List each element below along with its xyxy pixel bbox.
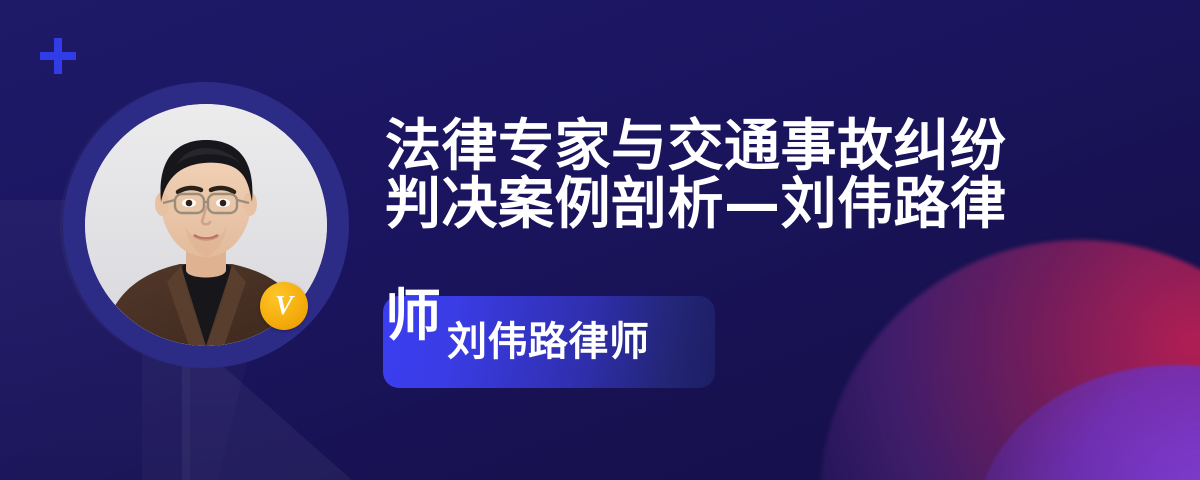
avatar: V <box>63 82 349 368</box>
verified-badge: V <box>260 282 308 330</box>
verified-check-icon: V <box>275 292 293 319</box>
title-line-2: 判决案例剖析—刘伟路律 <box>385 176 1025 234</box>
violet-blob-decoration <box>975 365 1200 480</box>
title-line-3: 师 <box>385 288 441 346</box>
magenta-blob-decoration <box>820 240 1200 480</box>
plus-icon <box>40 38 76 74</box>
title-line-1: 法律专家与交通事故纠纷 <box>385 118 1025 176</box>
banner-title: 法律专家与交通事故纠纷 判决案例剖析—刘伟路律 <box>385 118 1025 234</box>
speaker-banner: V 法律专家与交通事故纠纷 判决案例剖析—刘伟路律 刘伟路律师 师 <box>0 0 1200 480</box>
